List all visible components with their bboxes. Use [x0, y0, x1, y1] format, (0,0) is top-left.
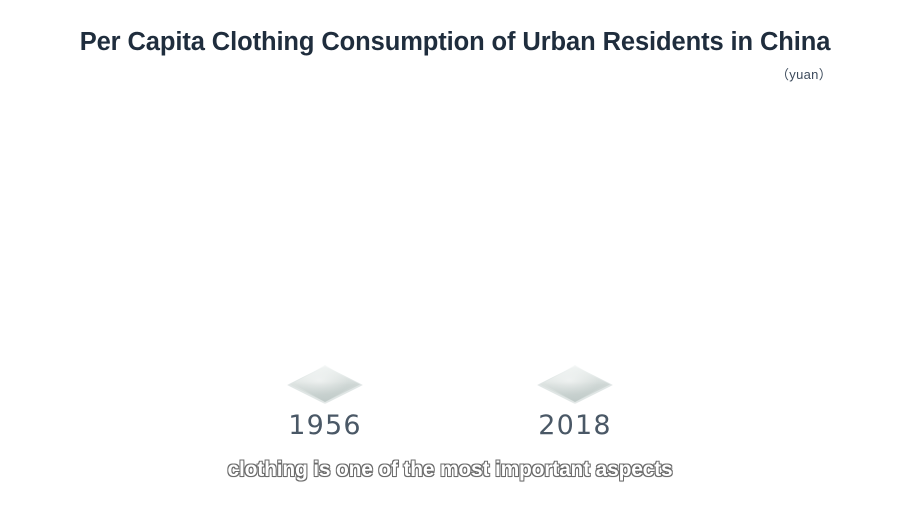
category-label-1956: 1956	[240, 410, 410, 441]
page-title: Per Capita Clothing Consumption of Urban…	[78, 28, 832, 57]
chart-plot-area	[60, 95, 840, 355]
video-caption: clothing is one of the most important as…	[0, 458, 900, 482]
pedestal-diamond-icon	[287, 364, 363, 406]
pedestal-shade-facet	[290, 382, 360, 402]
category-label-2018: 2018	[490, 410, 660, 441]
pedestal-shade-facet	[540, 382, 610, 402]
bar-slot-2018: 2018	[490, 360, 660, 460]
slide-canvas: Per Capita Clothing Consumption of Urban…	[0, 0, 900, 506]
pedestal-diamond-icon	[537, 364, 613, 406]
unit-label: （yuan）	[0, 64, 832, 83]
bar-slot-1956: 1956	[240, 360, 410, 460]
